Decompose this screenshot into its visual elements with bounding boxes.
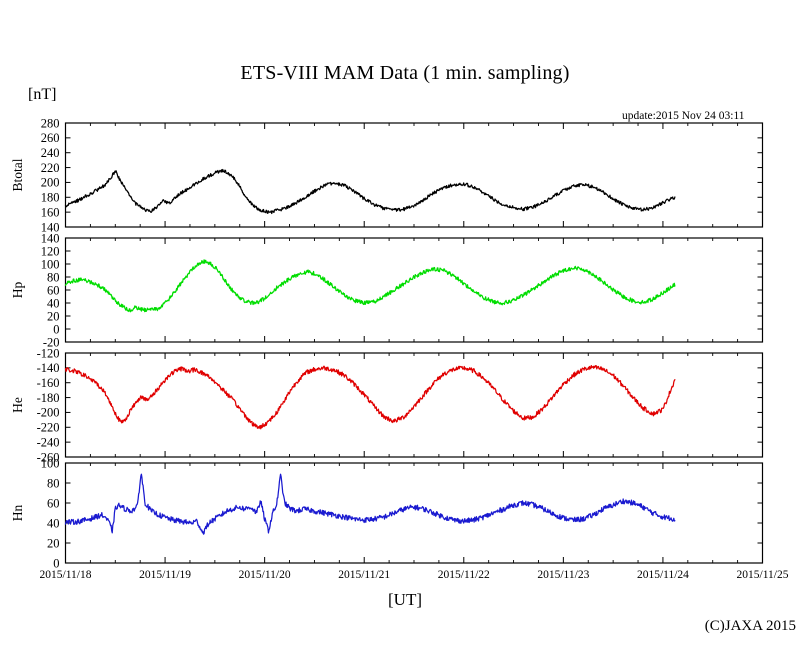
plot-area: 280260240220200180160140Btotal1401201008… [0,0,810,655]
x-tick-label: 2015/11/19 [139,569,191,581]
y-tick-label: 0 [53,322,59,336]
y-tick-label: 60 [47,496,60,510]
data-trace-hp [66,260,675,312]
x-tick-label: 2015/11/24 [637,569,689,581]
data-trace-btotal [66,170,675,214]
data-trace-he [66,366,675,429]
x-tick-label: 2015/11/21 [338,569,390,581]
y-tick-label: 100 [41,456,60,470]
y-tick-label: -200 [37,406,60,420]
x-tick-label: 2015/11/23 [537,569,589,581]
y-tick-label: 100 [41,257,60,271]
y-tick-label: 240 [41,146,60,160]
x-tick-label: 2015/11/22 [438,569,490,581]
data-trace-hn [66,474,675,534]
y-tick-label: 120 [41,244,60,258]
x-tick-label: 2015/11/18 [40,569,92,581]
panel-y-label-hn: Hn [10,505,25,522]
y-tick-label: -120 [37,346,60,360]
panel-y-label-hp: Hp [10,282,25,299]
y-tick-label: 180 [41,191,60,205]
y-tick-label: -140 [37,361,60,375]
panel-y-label-he: He [10,397,25,413]
y-tick-label: 140 [41,231,60,245]
panel-y-label-btotal: Btotal [10,158,25,191]
x-tick-label: 2015/11/20 [239,569,291,581]
y-tick-label: 60 [47,283,60,297]
x-axis-label: [UT] [0,590,810,610]
copyright-notice: (C)JAXA 2015 [0,618,810,635]
y-tick-label: 40 [47,296,60,310]
y-tick-label: 160 [41,205,60,219]
y-tick-label: -160 [37,376,60,390]
mam-data-figure: ETS-VIII MAM Data (1 min. sampling) [nT]… [0,0,810,655]
y-tick-label: 220 [41,161,60,175]
y-tick-label: 200 [41,176,60,190]
y-tick-label: 260 [41,131,60,145]
y-tick-label: -240 [37,435,60,449]
y-tick-label: 80 [47,476,60,490]
x-tick-label: 2015/11/25 [737,569,789,581]
y-tick-label: 80 [47,270,60,284]
y-tick-label: -220 [37,421,60,435]
y-tick-label: -180 [37,391,60,405]
y-tick-label: 20 [47,536,60,550]
y-tick-label: 40 [47,516,60,530]
y-tick-label: 280 [41,116,60,130]
y-tick-label: 20 [47,309,60,323]
